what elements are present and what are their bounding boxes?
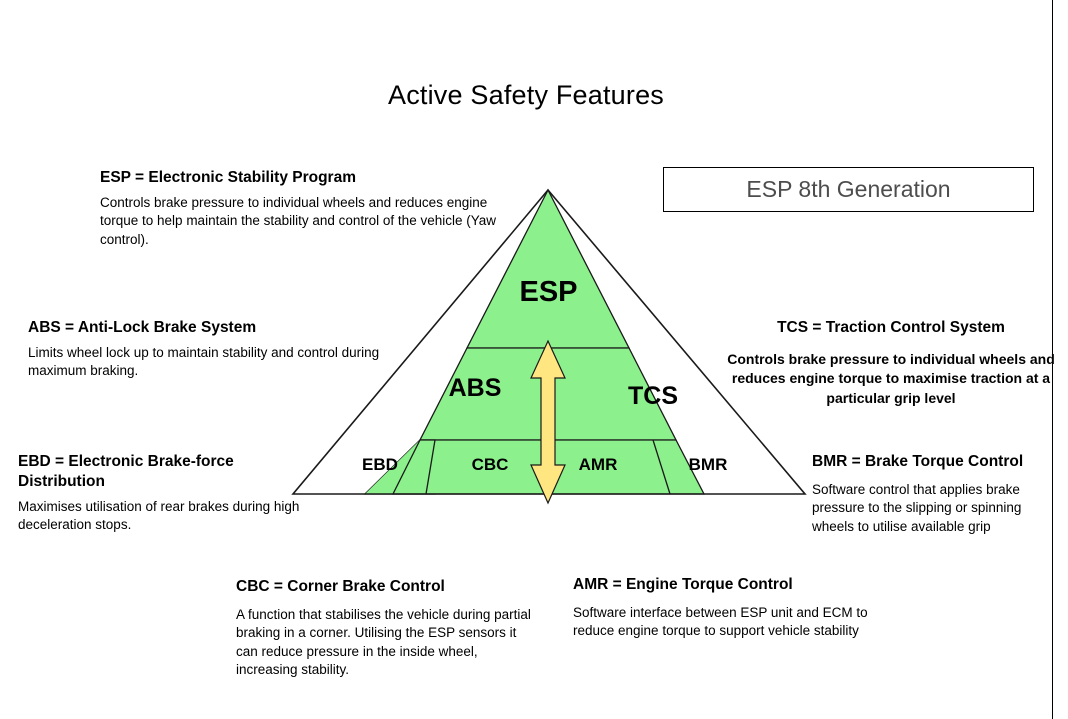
annotation-amr: AMR = Engine Torque Control Software int…	[573, 575, 903, 641]
pyramid-label-cbc: CBC	[440, 455, 540, 475]
annotation-abs-heading: ABS = Anti-Lock Brake System	[28, 318, 383, 338]
annotation-abs-body: Limits wheel lock up to maintain stabili…	[28, 344, 383, 381]
annotation-esp-body: Controls brake pressure to individual wh…	[100, 194, 505, 249]
annotation-amr-body: Software interface between ESP unit and …	[573, 604, 903, 641]
annotation-esp: ESP = Electronic Stability Program Contr…	[100, 168, 505, 249]
annotation-bmr-body: Software control that applies brake pres…	[812, 481, 1062, 536]
annotation-cbc-body: A function that stabilises the vehicle d…	[236, 606, 531, 679]
annotation-ebd: EBD = Electronic Brake-force Distributio…	[18, 452, 318, 534]
annotation-esp-heading: ESP = Electronic Stability Program	[100, 168, 505, 188]
annotation-tcs-heading: TCS = Traction Control System	[726, 318, 1056, 338]
annotation-ebd-heading: EBD = Electronic Brake-force Distributio…	[18, 452, 318, 492]
annotation-amr-heading: AMR = Engine Torque Control	[573, 575, 903, 595]
annotation-abs: ABS = Anti-Lock Brake System Limits whee…	[28, 318, 383, 381]
annotation-cbc-heading: CBC = Corner Brake Control	[236, 577, 531, 597]
annotation-cbc: CBC = Corner Brake Control A function th…	[236, 577, 531, 679]
pyramid-label-amr: AMR	[548, 455, 648, 475]
annotation-tcs: TCS = Traction Control System Controls b…	[726, 318, 1056, 409]
pyramid-label-ebd: EBD	[330, 455, 430, 475]
pyramid-label-esp: ESP	[461, 276, 636, 309]
annotation-bmr: BMR = Brake Torque Control Software cont…	[812, 452, 1062, 536]
pyramid-label-tcs: TCS	[578, 382, 728, 411]
annotation-bmr-heading: BMR = Brake Torque Control	[812, 452, 1062, 472]
pyramid-label-bmr: BMR	[658, 455, 758, 475]
pyramid-label-abs: ABS	[400, 374, 550, 403]
annotation-tcs-body: Controls brake pressure to individual wh…	[726, 350, 1056, 409]
annotation-ebd-body: Maximises utilisation of rear brakes dur…	[18, 498, 318, 535]
page-title: Active Safety Features	[0, 80, 1052, 111]
slide-canvas: Active Safety Features ESP 8th Generatio…	[0, 0, 1068, 719]
